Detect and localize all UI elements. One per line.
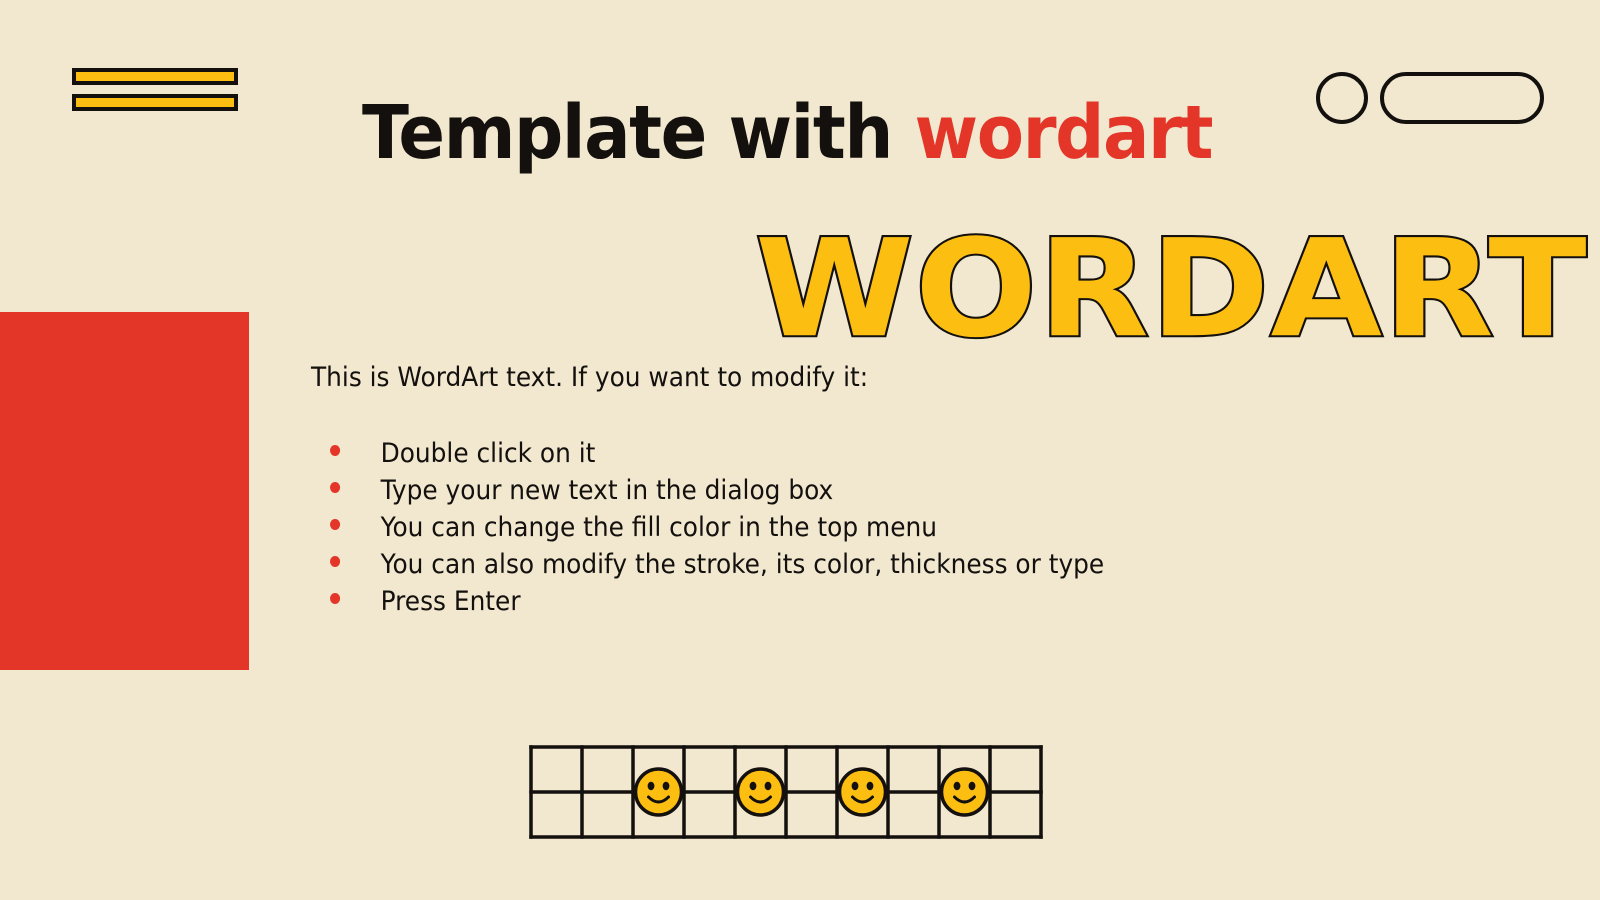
yellow-bar-bottom-icon (72, 94, 238, 111)
smiley-face-icon (738, 769, 784, 815)
list-item-label: Double click on it (381, 435, 596, 472)
outline-circle-icon (1316, 72, 1368, 124)
smiley-face-icon (942, 769, 988, 815)
yellow-bar-top-icon (72, 68, 238, 85)
list-item: Type your new text in the dialog box (330, 472, 1104, 509)
list-item: Press Enter (330, 583, 1104, 620)
list-item: You can also modify the stroke, its colo… (330, 546, 1104, 583)
list-item-label: You can change the fill color in the top… (381, 509, 937, 546)
outline-pill-icon (1380, 72, 1544, 124)
list-item-label: Press Enter (381, 583, 521, 620)
top-right-shapes (1316, 72, 1544, 124)
bullet-dot-icon (330, 482, 340, 493)
red-rectangle-decoration (0, 312, 249, 670)
list-item-label: Type your new text in the dialog box (381, 472, 834, 509)
yellow-bars-decoration (72, 68, 238, 111)
list-item: Double click on it (330, 435, 1104, 472)
slide-title: Template with wordart (362, 96, 1212, 170)
smiley-grid-svg (528, 744, 1044, 840)
bullet-dot-icon (330, 519, 340, 530)
bullet-dot-icon (330, 445, 340, 456)
title-part-accent: wordart (915, 90, 1213, 176)
title-part-plain: Template with (362, 90, 915, 176)
list-item-label: You can also modify the stroke, its colo… (381, 546, 1105, 583)
lead-paragraph: This is WordArt text. If you want to mod… (311, 362, 868, 393)
smiley-face-icon (840, 769, 886, 815)
instructions-list: Double click on it Type your new text in… (330, 435, 1104, 620)
bullet-dot-icon (330, 593, 340, 604)
list-item: You can change the fill color in the top… (330, 509, 1104, 546)
smiley-grid-decoration (528, 744, 1044, 840)
bullet-dot-icon (330, 556, 340, 567)
smiley-face-icon (636, 769, 682, 815)
wordart-display-text[interactable]: WORDART (755, 222, 1588, 357)
slide-canvas: Template with wordart WORDART This is Wo… (0, 0, 1600, 900)
